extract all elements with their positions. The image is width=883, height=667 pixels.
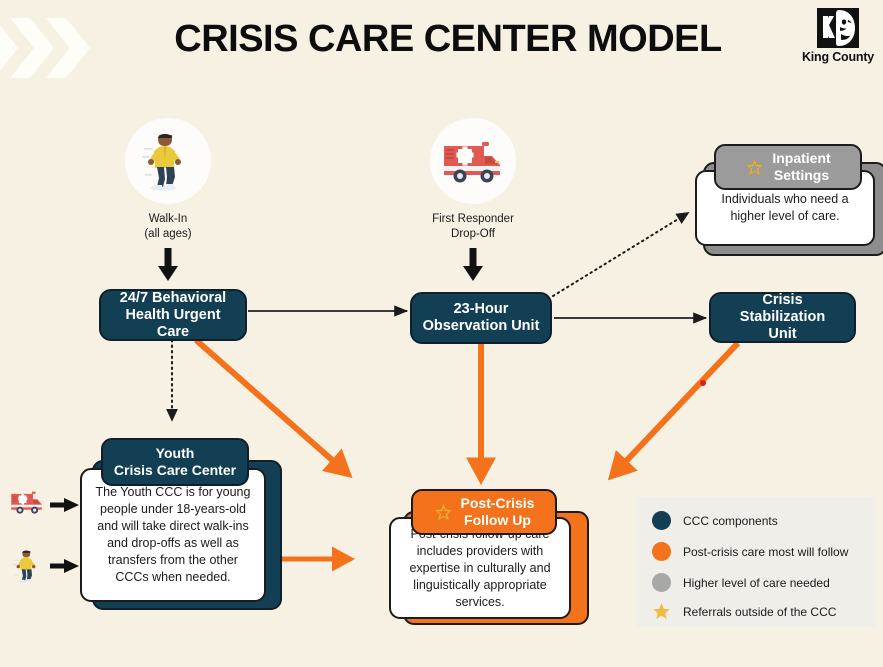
cursor-dot [700,380,706,386]
card-inpatient-settings: Individuals who need a higher level of c… [693,144,883,254]
walk-in-caption: Walk-In (all ages) [124,212,212,242]
legend-item-post-crisis: Post-crisis care most will follow [652,542,848,561]
legend-marker-gray-circle [652,573,671,592]
card-post-crisis-line1: Post-Crisis [461,495,535,511]
legend-label-higher-level: Higher level of care needed [683,576,830,590]
king-county-label: King County [800,50,876,64]
walking-person-icon [140,130,196,192]
node-stabilization-label: Crisis Stabilization Unit [719,292,846,343]
youth-input-ambulance-icon [8,487,46,522]
legend: CCC components Post-crisis care most wil… [636,497,876,627]
first-responder-bubble [430,118,516,204]
legend-label-post-crisis: Post-crisis care most will follow [683,545,848,559]
card-inpatient-line2: Settings [774,167,829,183]
legend-item-higher-level: Higher level of care needed [652,573,830,592]
walk-in-caption-line2: (all ages) [124,227,212,242]
node-urgent-care[interactable]: 24/7 Behavioral Health Urgent Care [99,289,247,341]
first-responder-caption-line2: Drop-Off [429,227,517,242]
legend-label-referrals: Referrals outside of the CCC [683,605,836,619]
card-youth-title: Youth Crisis Care Center [114,445,236,479]
king-county-logo: King County [800,8,876,72]
card-youth-header[interactable]: Youth Crisis Care Center [101,438,249,486]
source-walk-in: Walk-In (all ages) [124,118,212,242]
card-inpatient-line1: Inpatient [772,150,830,166]
legend-marker-orange-circle [652,542,671,561]
first-responder-caption-line1: First Responder [429,212,517,227]
node-observation-line1: 23-Hour [423,301,540,318]
triple-chevron-right-icon [0,14,108,84]
node-urgent-care-line1: 24/7 Behavioral [109,290,237,307]
first-responder-caption: First Responder Drop-Off [429,212,517,242]
card-youth-body: The Youth CCC is for young people under … [80,468,266,602]
card-inpatient-header[interactable]: Inpatient Settings [714,144,862,190]
node-crisis-stabilization-unit[interactable]: Crisis Stabilization Unit [709,292,856,343]
card-inpatient-title: Inpatient Settings [772,150,830,184]
connector-ambulance-to-youth [50,498,79,512]
node-stabilization-line1: Crisis Stabilization [719,292,846,326]
card-youth-line2: Crisis Care Center [114,462,236,478]
card-post-crisis-title: Post-Crisis Follow Up [461,495,535,529]
connector-responder-to-observation [463,248,483,281]
star-icon [434,503,453,522]
connector-stabilization-to-postcrisis [612,343,738,476]
diagram-canvas: CRISIS CARE CENTER MODEL King County [0,0,883,667]
connector-walkin-to-urgent [158,248,178,281]
legend-label-ccc-components: CCC components [683,514,778,528]
node-urgent-care-label: 24/7 Behavioral Health Urgent Care [109,290,237,341]
connector-observation-to-inpatient [553,213,688,296]
legend-item-ccc-components: CCC components [652,511,778,530]
king-county-mlk-icon [817,8,859,48]
card-post-crisis-header[interactable]: Post-Crisis Follow Up [411,489,557,535]
card-post-crisis-follow-up: Post-crisis follow-up care includes prov… [389,489,589,625]
ambulance-icon [438,136,508,186]
legend-marker-navy-circle [652,511,671,530]
node-observation-unit-label: 23-Hour Observation Unit [423,301,540,335]
walk-in-bubble [125,118,211,204]
legend-item-referrals: Referrals outside of the CCC [652,602,836,621]
source-first-responder: First Responder Drop-Off [429,118,517,242]
walk-in-caption-line1: Walk-In [124,212,212,227]
page-title: CRISIS CARE CENTER MODEL [108,18,788,61]
node-stabilization-line2: Unit [719,326,846,343]
star-icon [745,158,764,177]
node-observation-unit[interactable]: 23-Hour Observation Unit [410,292,552,344]
node-urgent-care-line2: Health Urgent Care [109,307,237,341]
card-youth-ccc: The Youth CCC is for young people under … [80,438,280,608]
card-youth-line1: Youth [156,445,195,461]
connector-walkin-to-youth [50,559,79,573]
node-observation-line2: Observation Unit [423,318,540,335]
card-post-crisis-line2: Follow Up [464,512,531,528]
youth-input-walking-person-icon [12,538,44,599]
legend-marker-star-icon [652,602,671,621]
